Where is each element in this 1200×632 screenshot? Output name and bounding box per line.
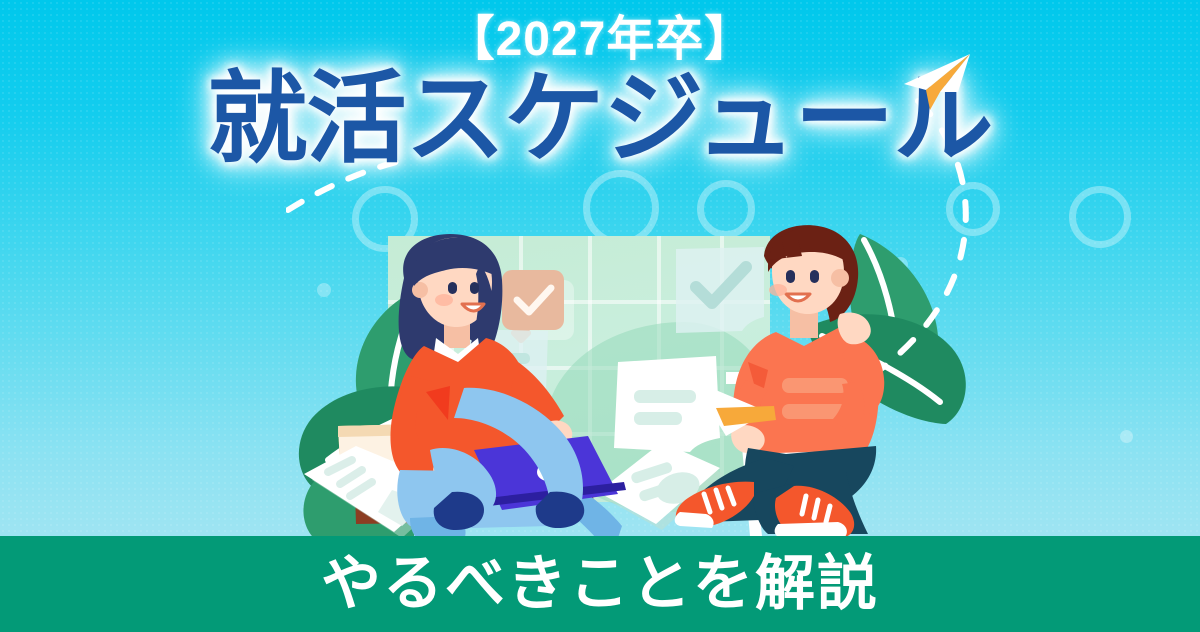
kicker-text: 【2027年卒】 bbox=[0, 16, 1200, 64]
bubble-decor bbox=[1120, 430, 1133, 443]
footer-banner: やるべきことを解説 bbox=[0, 536, 1200, 632]
banner-root: 【2027年卒】 就活スケジュール やるべきことを解説 bbox=[0, 0, 1200, 632]
ring-decor bbox=[946, 182, 1000, 236]
bubble-decor bbox=[317, 283, 331, 297]
orange-sneaker-lower bbox=[766, 484, 858, 542]
footer-text: やるべきことを解説 bbox=[321, 554, 879, 614]
ring-decor bbox=[1069, 186, 1131, 248]
page-title: 就活スケジュール bbox=[0, 68, 1200, 170]
woman-legs-feet bbox=[430, 380, 690, 532]
title-block: 【2027年卒】 就活スケジュール bbox=[0, 16, 1200, 170]
